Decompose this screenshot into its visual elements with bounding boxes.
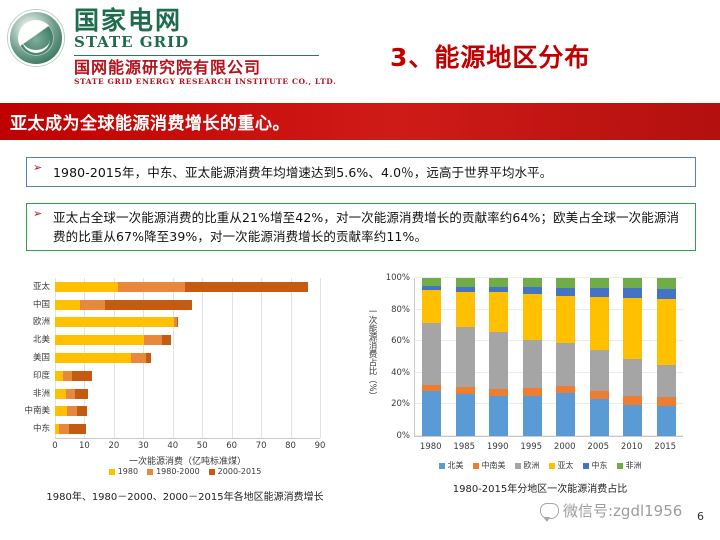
column-segment <box>523 396 542 436</box>
legend-item: 中南美 <box>473 460 506 471</box>
horizontal-bar-plot-area: 亚太中国欧洲北美美国印度非洲中南美中东 <box>55 278 320 438</box>
x-tick-label: 70 <box>256 441 267 451</box>
legend-swatch <box>473 463 479 469</box>
bar-segment <box>80 300 105 310</box>
column-bar <box>422 278 441 436</box>
brand-text-block: 国家电网 STATE GRID 国网能源研究院有限公司 STATE GRID E… <box>74 8 336 86</box>
bar-row: 欧洲 <box>55 317 178 327</box>
column-segment <box>523 340 542 388</box>
x-tick-label: 90 <box>315 441 326 451</box>
watermark: 微信号:zgdl1956 <box>540 500 682 521</box>
bar-row: 美国 <box>55 353 151 363</box>
y-axis-label: 印度 <box>33 371 50 381</box>
bar-row: 中国 <box>55 300 192 310</box>
column-segment <box>623 288 642 298</box>
column-segment <box>657 299 676 365</box>
legend-label: 中东 <box>592 460 608 471</box>
column-segment <box>422 323 441 385</box>
section-banner: 亚太成为全球能源消费增长的重心。 <box>0 103 720 140</box>
column-segment <box>422 391 441 436</box>
x-tick-label: 0 <box>52 441 57 451</box>
bar-row: 中东 <box>55 424 86 434</box>
column-segment <box>456 327 475 387</box>
stacked-column-plot-area <box>414 278 683 437</box>
left-chart-panel: 亚太中国欧洲北美美国印度非洲中南美中东 0102030405060708090 … <box>10 270 360 515</box>
column-segment <box>623 405 642 436</box>
institute-name-en: STATE GRID ENERGY RESEARCH INSTITUTE CO.… <box>74 77 336 86</box>
slide-header: 国家电网 STATE GRID 国网能源研究院有限公司 STATE GRID E… <box>0 0 720 100</box>
column-segment <box>590 288 609 297</box>
legend-item: 中东 <box>583 460 608 471</box>
column-segment <box>556 278 575 288</box>
x-axis-title: 一次能源消费（亿吨标准煤） <box>55 454 320 467</box>
legend-swatch <box>583 463 589 469</box>
state-grid-logo-icon <box>8 10 64 66</box>
bar-segment <box>118 282 185 292</box>
bar-segment <box>131 353 146 363</box>
legend-item: 非洲 <box>617 460 642 471</box>
column-segment <box>590 391 609 399</box>
institute-name-cn: 国网能源研究院有限公司 <box>74 59 336 77</box>
column-segment <box>657 406 676 436</box>
x-tick-label: 30 <box>138 441 149 451</box>
column-segment <box>590 278 609 288</box>
bar-row: 中南美 <box>55 406 87 416</box>
y-axis-label: 中东 <box>33 424 50 434</box>
column-segment <box>489 332 508 389</box>
x-tick-label: 50 <box>197 441 208 451</box>
column-segment <box>422 290 441 323</box>
y-axis-label: 亚太 <box>33 282 50 292</box>
y-tick-label: 60% <box>391 336 410 346</box>
bar-segment <box>55 406 67 416</box>
column-segment <box>623 396 642 405</box>
bar-row: 印度 <box>55 371 92 381</box>
bar-segment <box>144 335 162 345</box>
legend-item: 1980 <box>109 467 138 476</box>
bar-segment <box>55 371 63 381</box>
x-tick-label: 10 <box>79 441 90 451</box>
left-chart-caption: 1980年、1980－2000、2000－2015年各地区能源消费增长 <box>10 488 360 503</box>
y-tick-label: 20% <box>391 399 410 409</box>
legend-label: 2000-2015 <box>218 467 262 476</box>
page-number: 6 <box>697 510 704 523</box>
legend-item: 欧洲 <box>515 460 540 471</box>
x-tick-label: 2000 <box>554 442 576 452</box>
column-segment <box>556 343 575 386</box>
legend-swatch <box>515 463 521 469</box>
column-segment <box>657 289 676 300</box>
x-tick-label: 40 <box>167 441 178 451</box>
column-bar <box>657 278 676 436</box>
y-axis-label: 中国 <box>33 300 50 310</box>
column-segment <box>556 288 575 295</box>
legend-swatch <box>439 463 445 469</box>
section-banner-text: 亚太成为全球能源消费增长的重心。 <box>10 109 290 134</box>
legend-swatch <box>549 463 555 469</box>
bar-segment <box>146 353 151 363</box>
column-segment <box>456 394 475 436</box>
bullet-text-1: 1980-2015年，中东、亚太能源消费年均增速达到5.6%、4.0％，远高于世… <box>51 158 558 182</box>
bar-segment <box>66 389 75 399</box>
x-tick-label: 2010 <box>621 442 643 452</box>
legend-label: 亚太 <box>558 460 574 471</box>
x-tick-label: 80 <box>285 441 296 451</box>
column-segment <box>523 388 542 396</box>
legend-swatch <box>109 469 115 475</box>
column-segment <box>456 387 475 394</box>
column-segment <box>422 385 441 392</box>
watermark-text: 微信号:zgdl1956 <box>563 500 682 521</box>
x-tick-label: 2005 <box>587 442 609 452</box>
column-segment <box>489 292 508 332</box>
legend-item: 1980-2000 <box>147 467 200 476</box>
y-tick-label: 100% <box>386 273 410 283</box>
column-bar <box>523 278 542 436</box>
right-chart-caption: 1980-2015年分地区一次能源消费占比 <box>368 480 712 495</box>
bar-segment <box>55 317 174 327</box>
x-tick-label: 1980 <box>420 442 442 452</box>
column-segment <box>456 292 475 327</box>
column-bar <box>556 278 575 436</box>
page-title: 3、能源地区分布 <box>390 38 590 74</box>
legend-item: 北美 <box>439 460 464 471</box>
bar-segment <box>59 424 69 434</box>
bar-segment <box>75 389 88 399</box>
column-segment <box>523 294 542 340</box>
column-segment <box>590 297 609 351</box>
column-segment <box>523 287 542 294</box>
y-tick-label: 80% <box>391 305 410 315</box>
y-axis-label: 美国 <box>33 353 50 363</box>
brand-lockup: 国家电网 STATE GRID 国网能源研究院有限公司 STATE GRID E… <box>8 8 336 86</box>
column-segment <box>422 278 441 286</box>
column-segment <box>556 393 575 436</box>
arrow-right-icon: ➢ <box>33 208 49 219</box>
column-segment <box>657 278 676 289</box>
column-bar <box>623 278 642 436</box>
bullet-text-2: 亚太占全球一次能源消费的比重从21%增至42%，对一次能源消费增长的贡献率约64… <box>51 204 695 247</box>
y-axis-label: 欧洲 <box>33 317 50 327</box>
bar-segment <box>185 282 308 292</box>
column-segment <box>556 386 575 393</box>
y-tick-label: 40% <box>391 368 410 378</box>
bar-segment <box>55 335 144 345</box>
x-tick-label: 1985 <box>453 442 475 452</box>
right-chart-panel: 一次能源消费占比（%） 0%20%40%60%80%100% 198019851… <box>368 270 712 515</box>
bar-segment <box>177 317 178 327</box>
column-segment <box>623 278 642 288</box>
x-tick-label: 2015 <box>654 442 676 452</box>
column-segment <box>623 359 642 396</box>
column-bar <box>456 278 475 436</box>
y-axis-label: 中南美 <box>24 406 50 416</box>
bar-row: 亚太 <box>55 282 308 292</box>
column-bar <box>489 278 508 436</box>
x-tick-label: 1995 <box>520 442 542 452</box>
legend-label: 欧洲 <box>524 460 540 471</box>
brand-name-cn: 国家电网 <box>74 8 336 34</box>
bar-segment <box>77 406 87 416</box>
column-segment <box>489 278 508 287</box>
column-segment <box>590 399 609 436</box>
legend-item: 亚太 <box>549 460 574 471</box>
y-axis-title: 一次能源消费占比（%） <box>366 284 378 424</box>
legend-swatch <box>209 469 215 475</box>
y-axis-label: 北美 <box>33 335 50 345</box>
legend-swatch <box>617 463 623 469</box>
legend-swatch <box>147 469 153 475</box>
brand-name-en: STATE GRID <box>74 34 336 51</box>
bullet-box-2: ➢ 亚太占全球一次能源消费的比重从21%增至42%，对一次能源消费增长的贡献率约… <box>26 203 696 251</box>
bar-segment <box>55 389 66 399</box>
y-tick-label: 0% <box>397 431 411 441</box>
right-chart-legend: 北美中南美欧洲亚太中东非洲 <box>368 460 712 471</box>
column-segment <box>623 298 642 359</box>
slide-root: 国家电网 STATE GRID 国网能源研究院有限公司 STATE GRID E… <box>0 0 720 540</box>
column-segment <box>489 389 508 396</box>
x-tick-label: 60 <box>226 441 237 451</box>
x-axis-line <box>55 438 320 439</box>
column-segment <box>657 365 676 397</box>
left-chart-legend: 19801980-20002000-2015 <box>10 467 360 476</box>
bar-row: 北美 <box>55 335 171 345</box>
column-segment <box>456 278 475 287</box>
column-bar <box>590 278 609 436</box>
legend-item: 2000-2015 <box>209 467 262 476</box>
bar-segment <box>105 300 192 310</box>
legend-label: 1980 <box>118 467 138 476</box>
legend-label: 非洲 <box>626 460 642 471</box>
column-segment <box>590 350 609 391</box>
legend-label: 北美 <box>448 460 464 471</box>
bar-segment <box>72 371 92 381</box>
arrow-right-icon: ➢ <box>33 162 49 173</box>
bar-segment <box>55 353 131 363</box>
column-segment <box>523 278 542 287</box>
bar-row: 非洲 <box>55 389 88 399</box>
bar-segment <box>69 424 85 434</box>
column-segment <box>556 296 575 344</box>
bar-segment <box>162 335 171 345</box>
bar-segment <box>67 406 77 416</box>
x-tick-label: 20 <box>108 441 119 451</box>
brand-divider <box>74 55 319 56</box>
legend-label: 1980-2000 <box>156 467 200 476</box>
bar-segment <box>55 282 118 292</box>
wechat-icon <box>540 503 559 519</box>
legend-label: 中南美 <box>482 460 506 471</box>
bar-segment <box>63 371 72 381</box>
bar-segment <box>55 300 80 310</box>
column-segment <box>489 396 508 436</box>
x-tick-label: 1990 <box>487 442 509 452</box>
column-segment <box>657 397 676 406</box>
bullet-box-1: ➢ 1980-2015年，中东、亚太能源消费年均增速达到5.6%、4.0％，远高… <box>26 157 696 187</box>
y-axis-label: 非洲 <box>33 389 50 399</box>
